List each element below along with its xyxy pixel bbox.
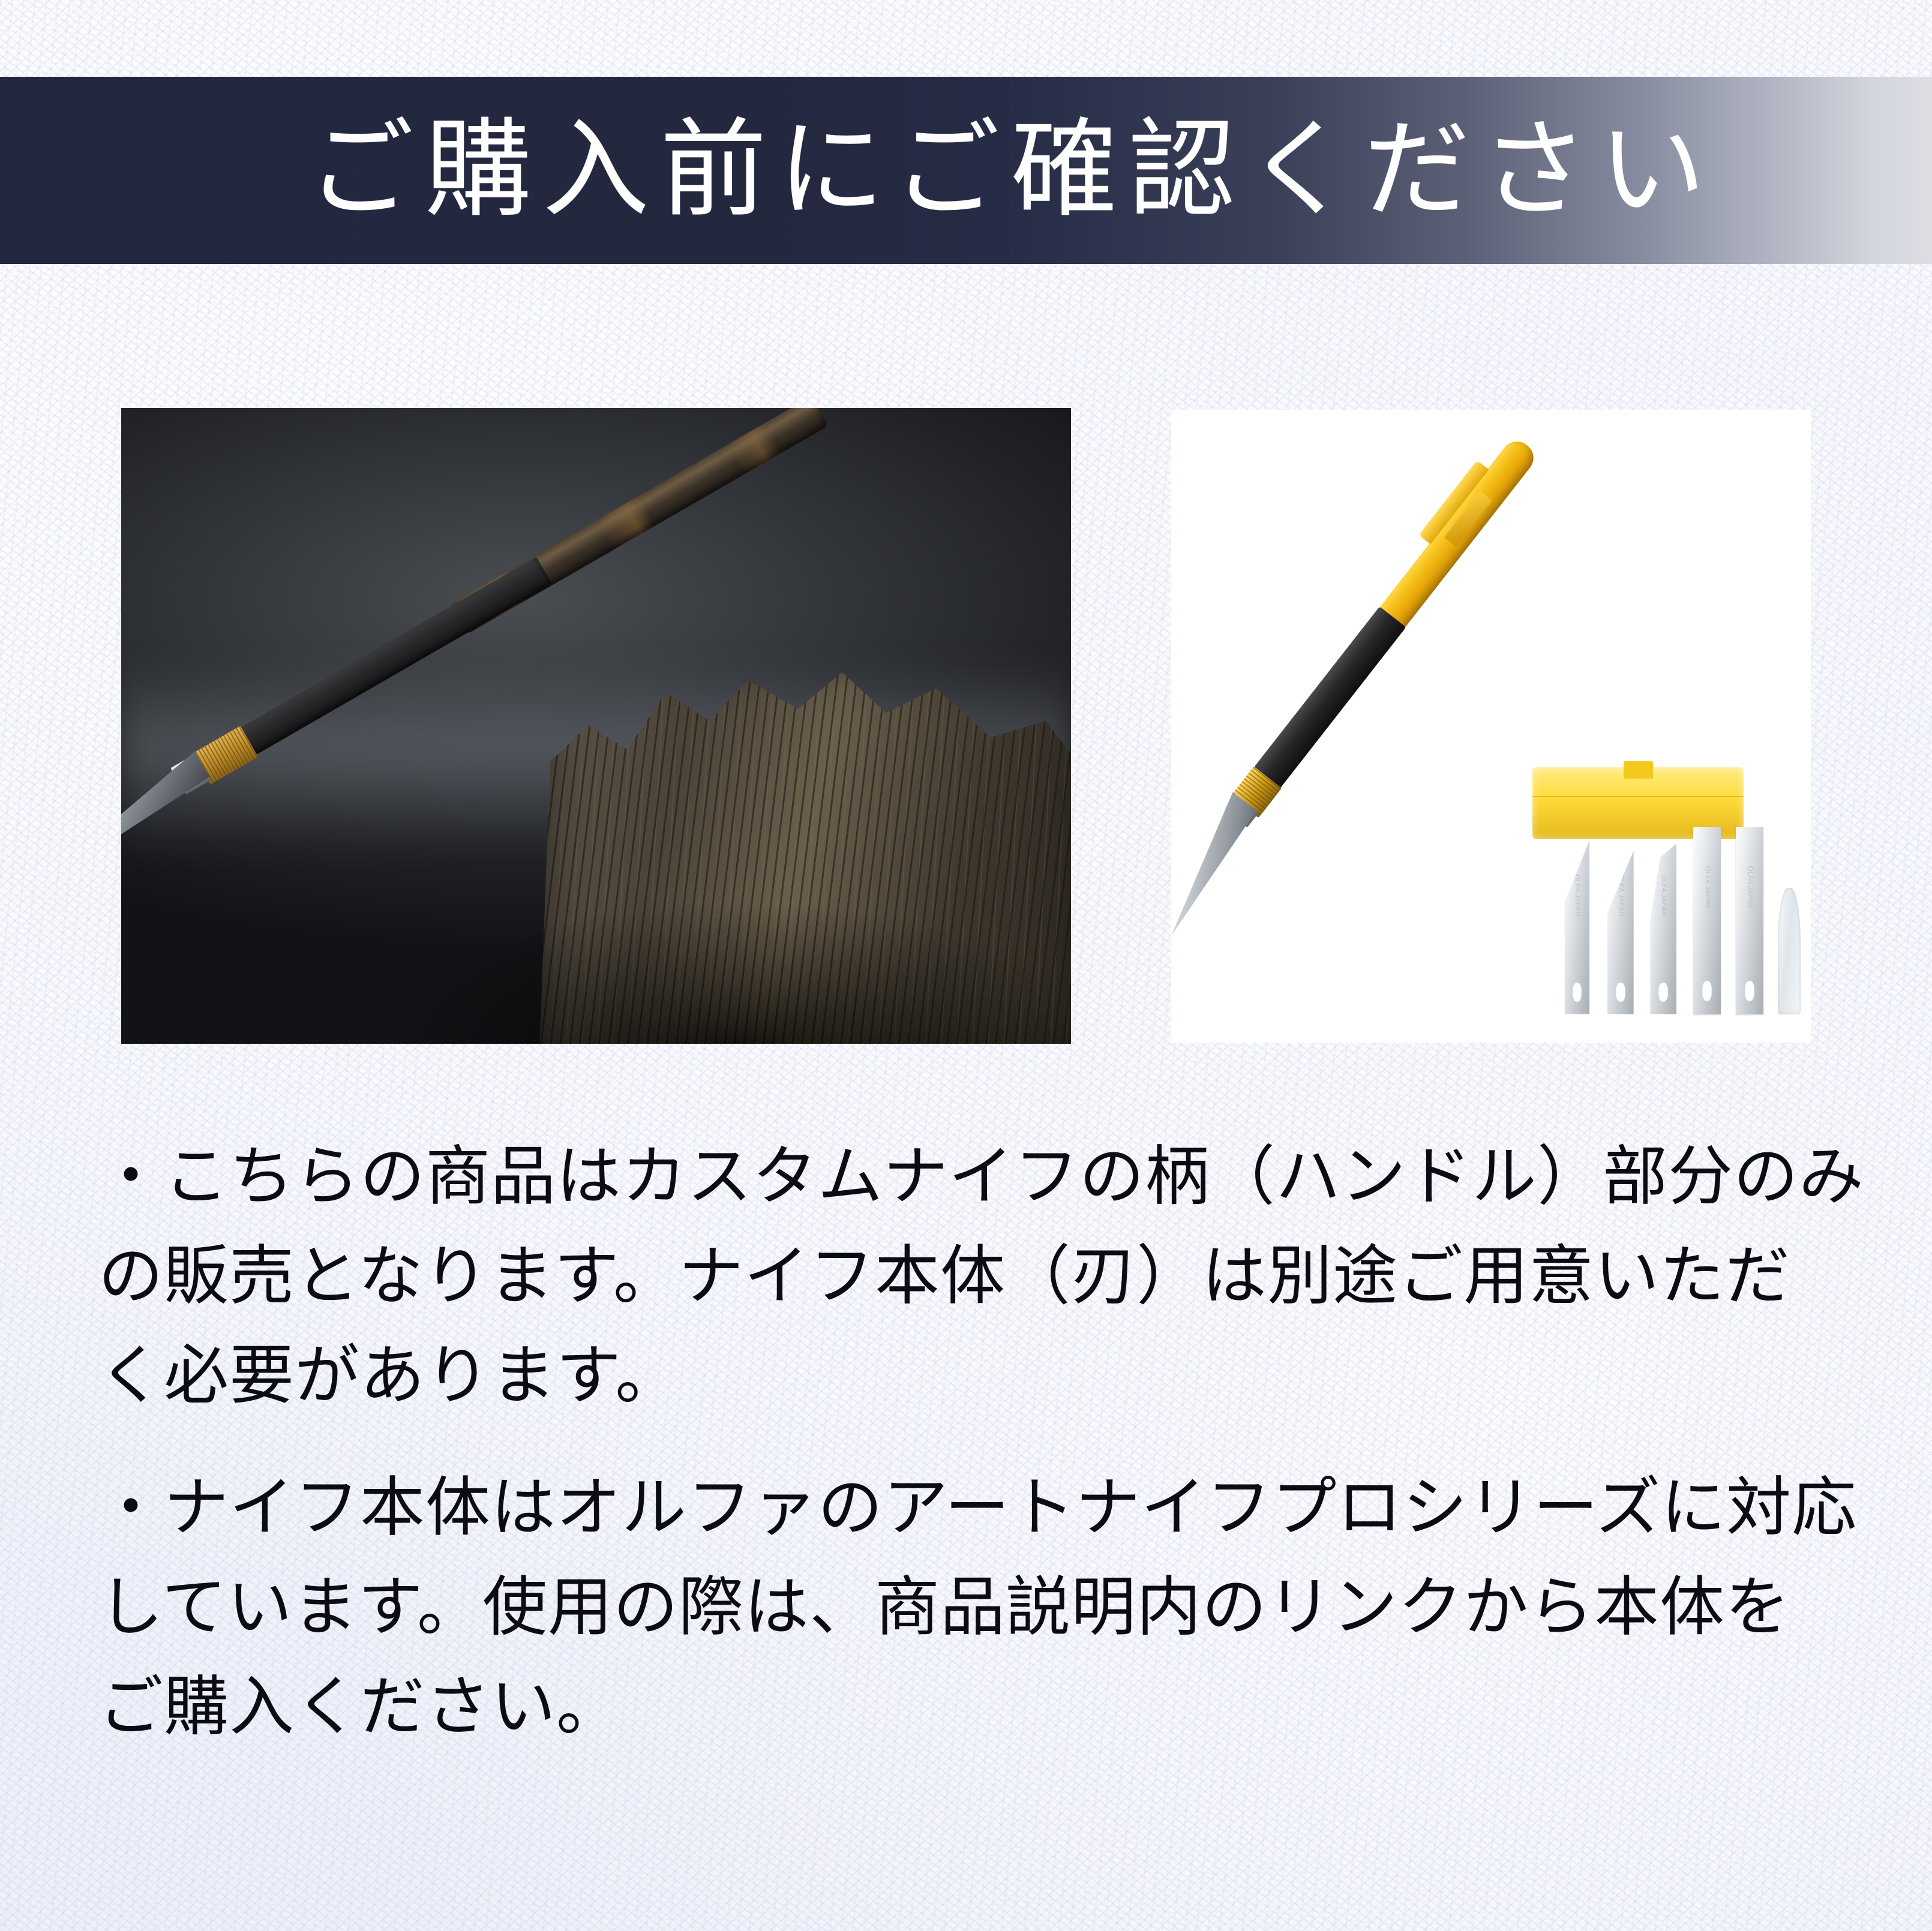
blade-mount-hole <box>1573 983 1582 1002</box>
header-banner: ご購入前にご確認ください <box>0 77 1932 264</box>
blade-case-seam <box>1532 796 1744 797</box>
blade-brand-mark: OLFA JAPAN <box>1574 875 1581 917</box>
blade-case-latch <box>1624 761 1653 779</box>
replacement-blade: OLFA JAPAN <box>1736 827 1763 1014</box>
notice-line: く必要があります。 <box>98 1327 1838 1427</box>
notice-line: ・こちらの商品はカスタムナイフの柄（ハンドル）部分のみ <box>98 1128 1838 1227</box>
blade-brand-mark: OLFA JAPAN <box>1660 875 1667 917</box>
notice-line: ・ナイフ本体はオルファのアートナイフプロシリーズに対応 <box>98 1459 1838 1558</box>
notice-line: しています。使用の際は、商品説明内のリンクから本体を <box>98 1558 1838 1658</box>
blade-mount-hole <box>1658 983 1668 1002</box>
notice-line: ご購入ください。 <box>98 1658 1838 1758</box>
page-title: ご購入前にご確認ください <box>307 117 1716 224</box>
notice-line: の販売となります。ナイフ本体（刃）は別途ご用意いただ <box>98 1227 1838 1327</box>
notice-body-text: ・こちらの商品はカスタムナイフの柄（ハンドル）部分のみ の販売となります。ナイフ… <box>98 1128 1838 1758</box>
notice-paragraph: ・ナイフ本体はオルファのアートナイフプロシリーズに対応 しています。使用の際は、… <box>98 1459 1838 1758</box>
blade-mount-hole <box>1616 983 1625 1002</box>
blade-mount-hole <box>1745 981 1754 1001</box>
replacement-blade: OLFA JAPAN <box>1650 840 1676 1014</box>
knife-blade <box>1171 791 1264 936</box>
blade-brand-mark: OLFA JAPAN <box>1746 866 1753 908</box>
photo-custom-knife-on-driftwood <box>121 408 1071 1044</box>
olfa-art-knife-pro <box>1222 436 1539 828</box>
replacement-blade: OLFA JAPAN <box>1607 840 1634 1014</box>
replacement-blade: OLFA JAPAN <box>1693 827 1721 1014</box>
product-notice-page: OLFA JAPAN OLFA JAPAN OLFA JAPAN OLFA JA… <box>0 0 1932 1931</box>
replacement-blade: OLFA JAPAN <box>1565 840 1590 1014</box>
blade-brand-mark: OLFA JAPAN <box>1703 866 1711 908</box>
driftwood-shadow <box>387 904 1071 1044</box>
photo-olfa-art-knife-pro-set: OLFA JAPAN OLFA JAPAN OLFA JAPAN OLFA JA… <box>1171 410 1811 1043</box>
knife-black-grip <box>1251 606 1406 791</box>
blade-mount-hole <box>1702 981 1712 1001</box>
clear-blade-cap <box>1778 888 1801 1014</box>
blade-brand-mark: OLFA JAPAN <box>1617 875 1624 917</box>
notice-paragraph: ・こちらの商品はカスタムナイフの柄（ハンドル）部分のみ の販売となります。ナイフ… <box>98 1128 1838 1427</box>
